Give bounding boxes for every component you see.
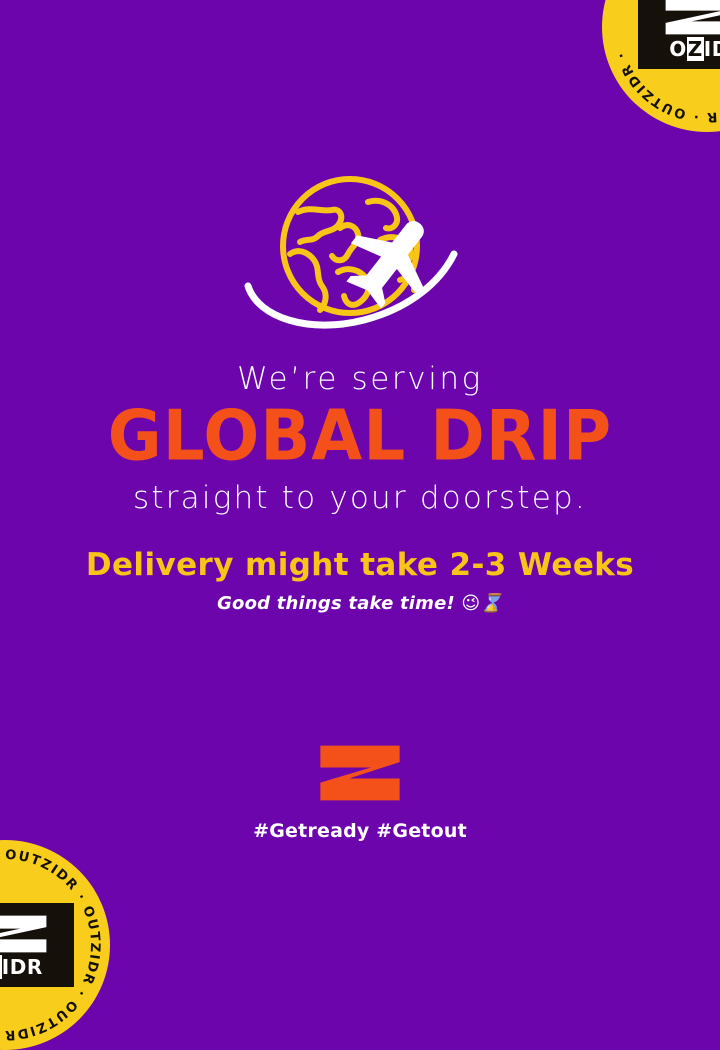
page-title: GLOBAL DRIP [0,401,720,470]
badge-wordmark-post: IDR [704,37,720,61]
footer: #Getready #Getout [0,744,720,842]
badge-wordmark-z: Z [687,37,704,61]
badge-wordmark-pre: O [669,37,687,61]
badge-wordmark: OZIDR [669,39,720,59]
delivery-notice: Delivery might take 2-3 Weeks Good thing… [0,548,720,614]
footer-tagline: #Getready #Getout [0,820,720,842]
outzidr-z-logo-icon [319,744,401,802]
headline-tail: straight to your doorstep. [0,481,720,516]
headline-group: We’re serving GLOBAL DRIP straight to yo… [0,362,720,515]
badge-wordmark-post: IDR [2,955,43,979]
z-logo-icon [661,0,720,36]
headline-kicker: We’re serving [0,362,720,397]
badge-core: OZIDR [638,0,720,69]
globe-with-airplane-icon [0,168,720,340]
z-logo-icon [0,914,51,954]
outzidr-seal-bottom-left: OUTZIDR · OUTZIDR · OUTZIDR · OUTZIDR · … [0,840,110,1050]
delivery-subline: Good things take time! 😉⌛ [0,593,720,614]
delivery-headline: Delivery might take 2-3 Weeks [0,548,720,582]
outzidr-seal-top-right: OUTZIDR · OUTZIDR · OUTZIDR · OUTZIDR · … [602,0,720,132]
badge-core: OZIDR [0,903,74,987]
